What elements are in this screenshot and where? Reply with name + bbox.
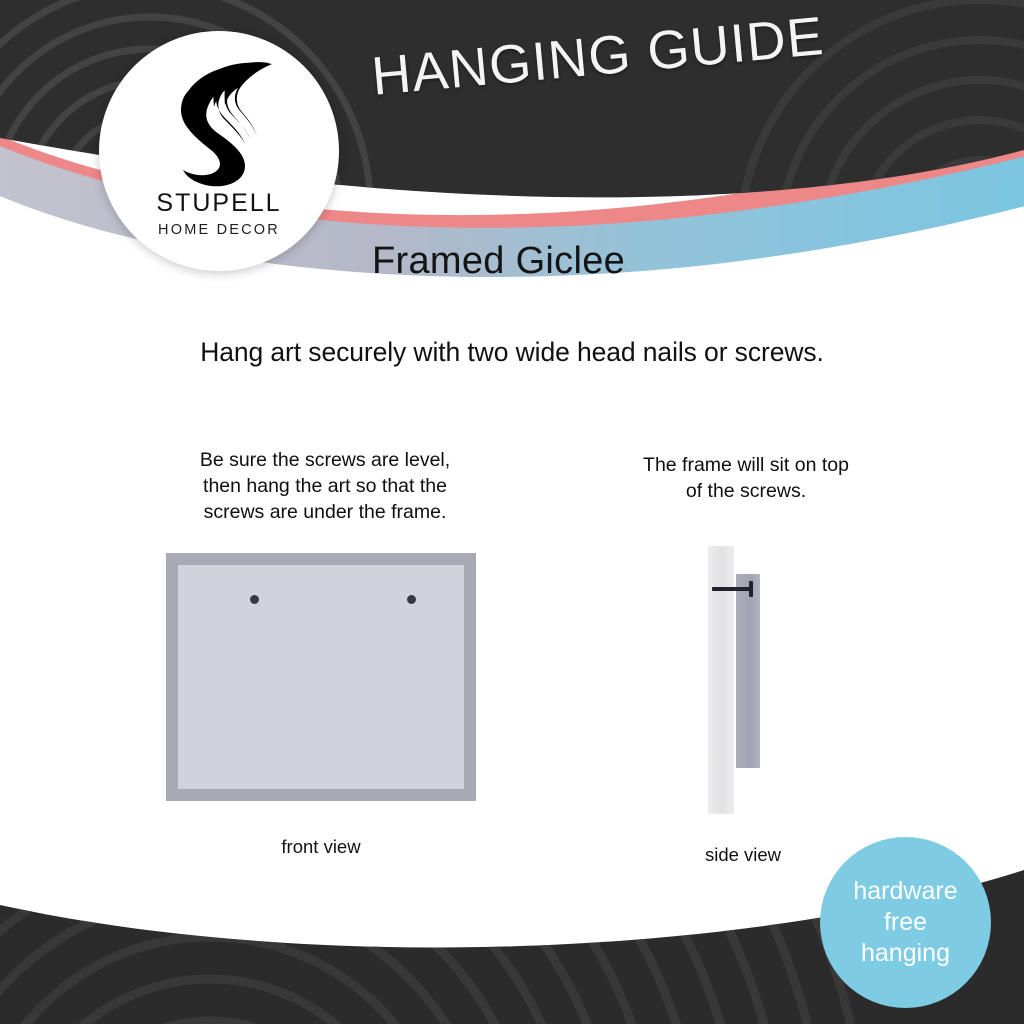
- stupell-swoosh-s-logo-icon: [159, 60, 279, 188]
- badge-line: hardware: [853, 876, 957, 907]
- side-view-diagram: [708, 546, 778, 814]
- main-instruction-text: Hang art securely with two wide head nai…: [0, 337, 1024, 368]
- hanging-guide-infographic: HANGING GUIDE STUPELL HOME DECOR Framed …: [0, 0, 1024, 1024]
- caption-line: screws are under the frame.: [180, 499, 470, 525]
- caption-line: of the screws.: [610, 478, 882, 504]
- screw-dot-left: [250, 595, 259, 604]
- front-view-art-panel: [178, 565, 464, 789]
- caption-line: The frame will sit on top: [610, 452, 882, 478]
- front-view-diagram: [166, 553, 476, 801]
- side-view-caption: The frame will sit on top of the screws.: [610, 452, 882, 504]
- screw-dot-right: [407, 595, 416, 604]
- side-view-frame: [736, 574, 760, 768]
- side-view-label: side view: [668, 844, 818, 866]
- page-title: HANGING GUIDE: [369, 0, 892, 108]
- front-view-label: front view: [166, 836, 476, 858]
- front-view-caption: Be sure the screws are level, then hang …: [180, 447, 470, 525]
- screw-shaft-icon: [712, 587, 751, 591]
- brand-tagline: HOME DECOR: [99, 222, 339, 238]
- caption-line: Be sure the screws are level,: [180, 447, 470, 473]
- brand-name: STUPELL: [99, 189, 339, 218]
- hardware-free-badge: hardware free hanging: [820, 837, 991, 1008]
- caption-line: then hang the art so that the: [180, 473, 470, 499]
- badge-line: free: [884, 907, 927, 938]
- badge-line: hanging: [861, 938, 950, 969]
- brand-logo-badge: STUPELL HOME DECOR: [99, 31, 339, 271]
- screw-head-icon: [749, 581, 753, 597]
- product-type-label: Framed Giclee: [372, 240, 625, 283]
